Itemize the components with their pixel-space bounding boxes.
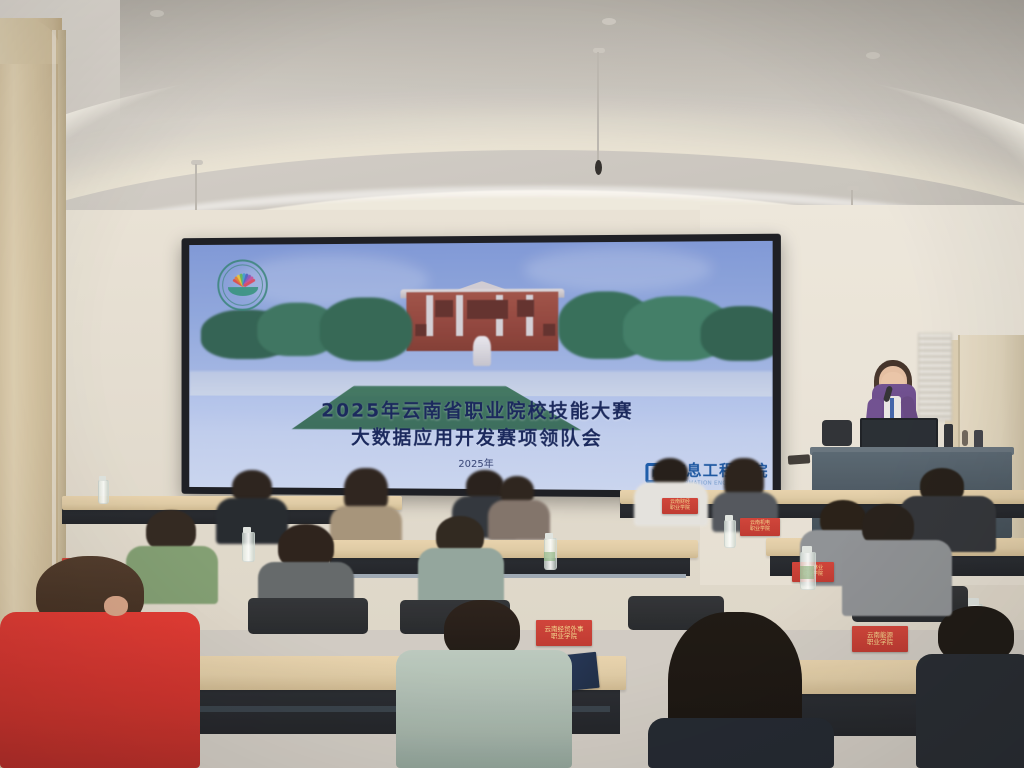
table-placard: 云南机电 职业学院 <box>740 518 780 536</box>
presenter-chair <box>822 420 852 446</box>
slide-title-line-1: 2025年云南省职业院校技能大赛 <box>189 395 772 423</box>
conference-room-photo: 2025年云南省职业院校技能大赛 大数据应用开发赛项领队会 2025年 信息工程… <box>0 0 1024 768</box>
door-handle-icon[interactable] <box>962 430 968 446</box>
led-display-frame: 2025年云南省职业院校技能大赛 大数据应用开发赛项领队会 2025年 信息工程… <box>182 234 781 499</box>
ceiling-downlight <box>150 10 164 17</box>
desk-rail <box>330 574 686 578</box>
table-placard: 云南财经 职业学院 <box>662 498 698 514</box>
ceiling-downlight <box>602 18 616 25</box>
water-bottle <box>724 520 736 548</box>
school-emblem <box>217 259 268 311</box>
slide-title-line-2: 大数据应用开发赛项领队会 <box>189 422 772 451</box>
wall-vent <box>918 333 952 421</box>
water-bottle <box>242 532 255 562</box>
presentation-slide: 2025年云南省职业院校技能大赛 大数据应用开发赛项领队会 2025年 信息工程… <box>189 241 772 491</box>
water-bottle <box>98 480 109 504</box>
table-placard: 云南经贸外事 职业学院 <box>536 620 592 646</box>
ceiling-downlight <box>866 52 880 59</box>
table-placard: 云南能源 职业学院 <box>852 626 908 652</box>
desk-modesty-panel <box>330 556 690 576</box>
chair <box>248 598 368 634</box>
slide-statue <box>473 336 491 366</box>
table-row-2-left <box>326 540 698 558</box>
wall-speaker-icon <box>788 454 811 465</box>
